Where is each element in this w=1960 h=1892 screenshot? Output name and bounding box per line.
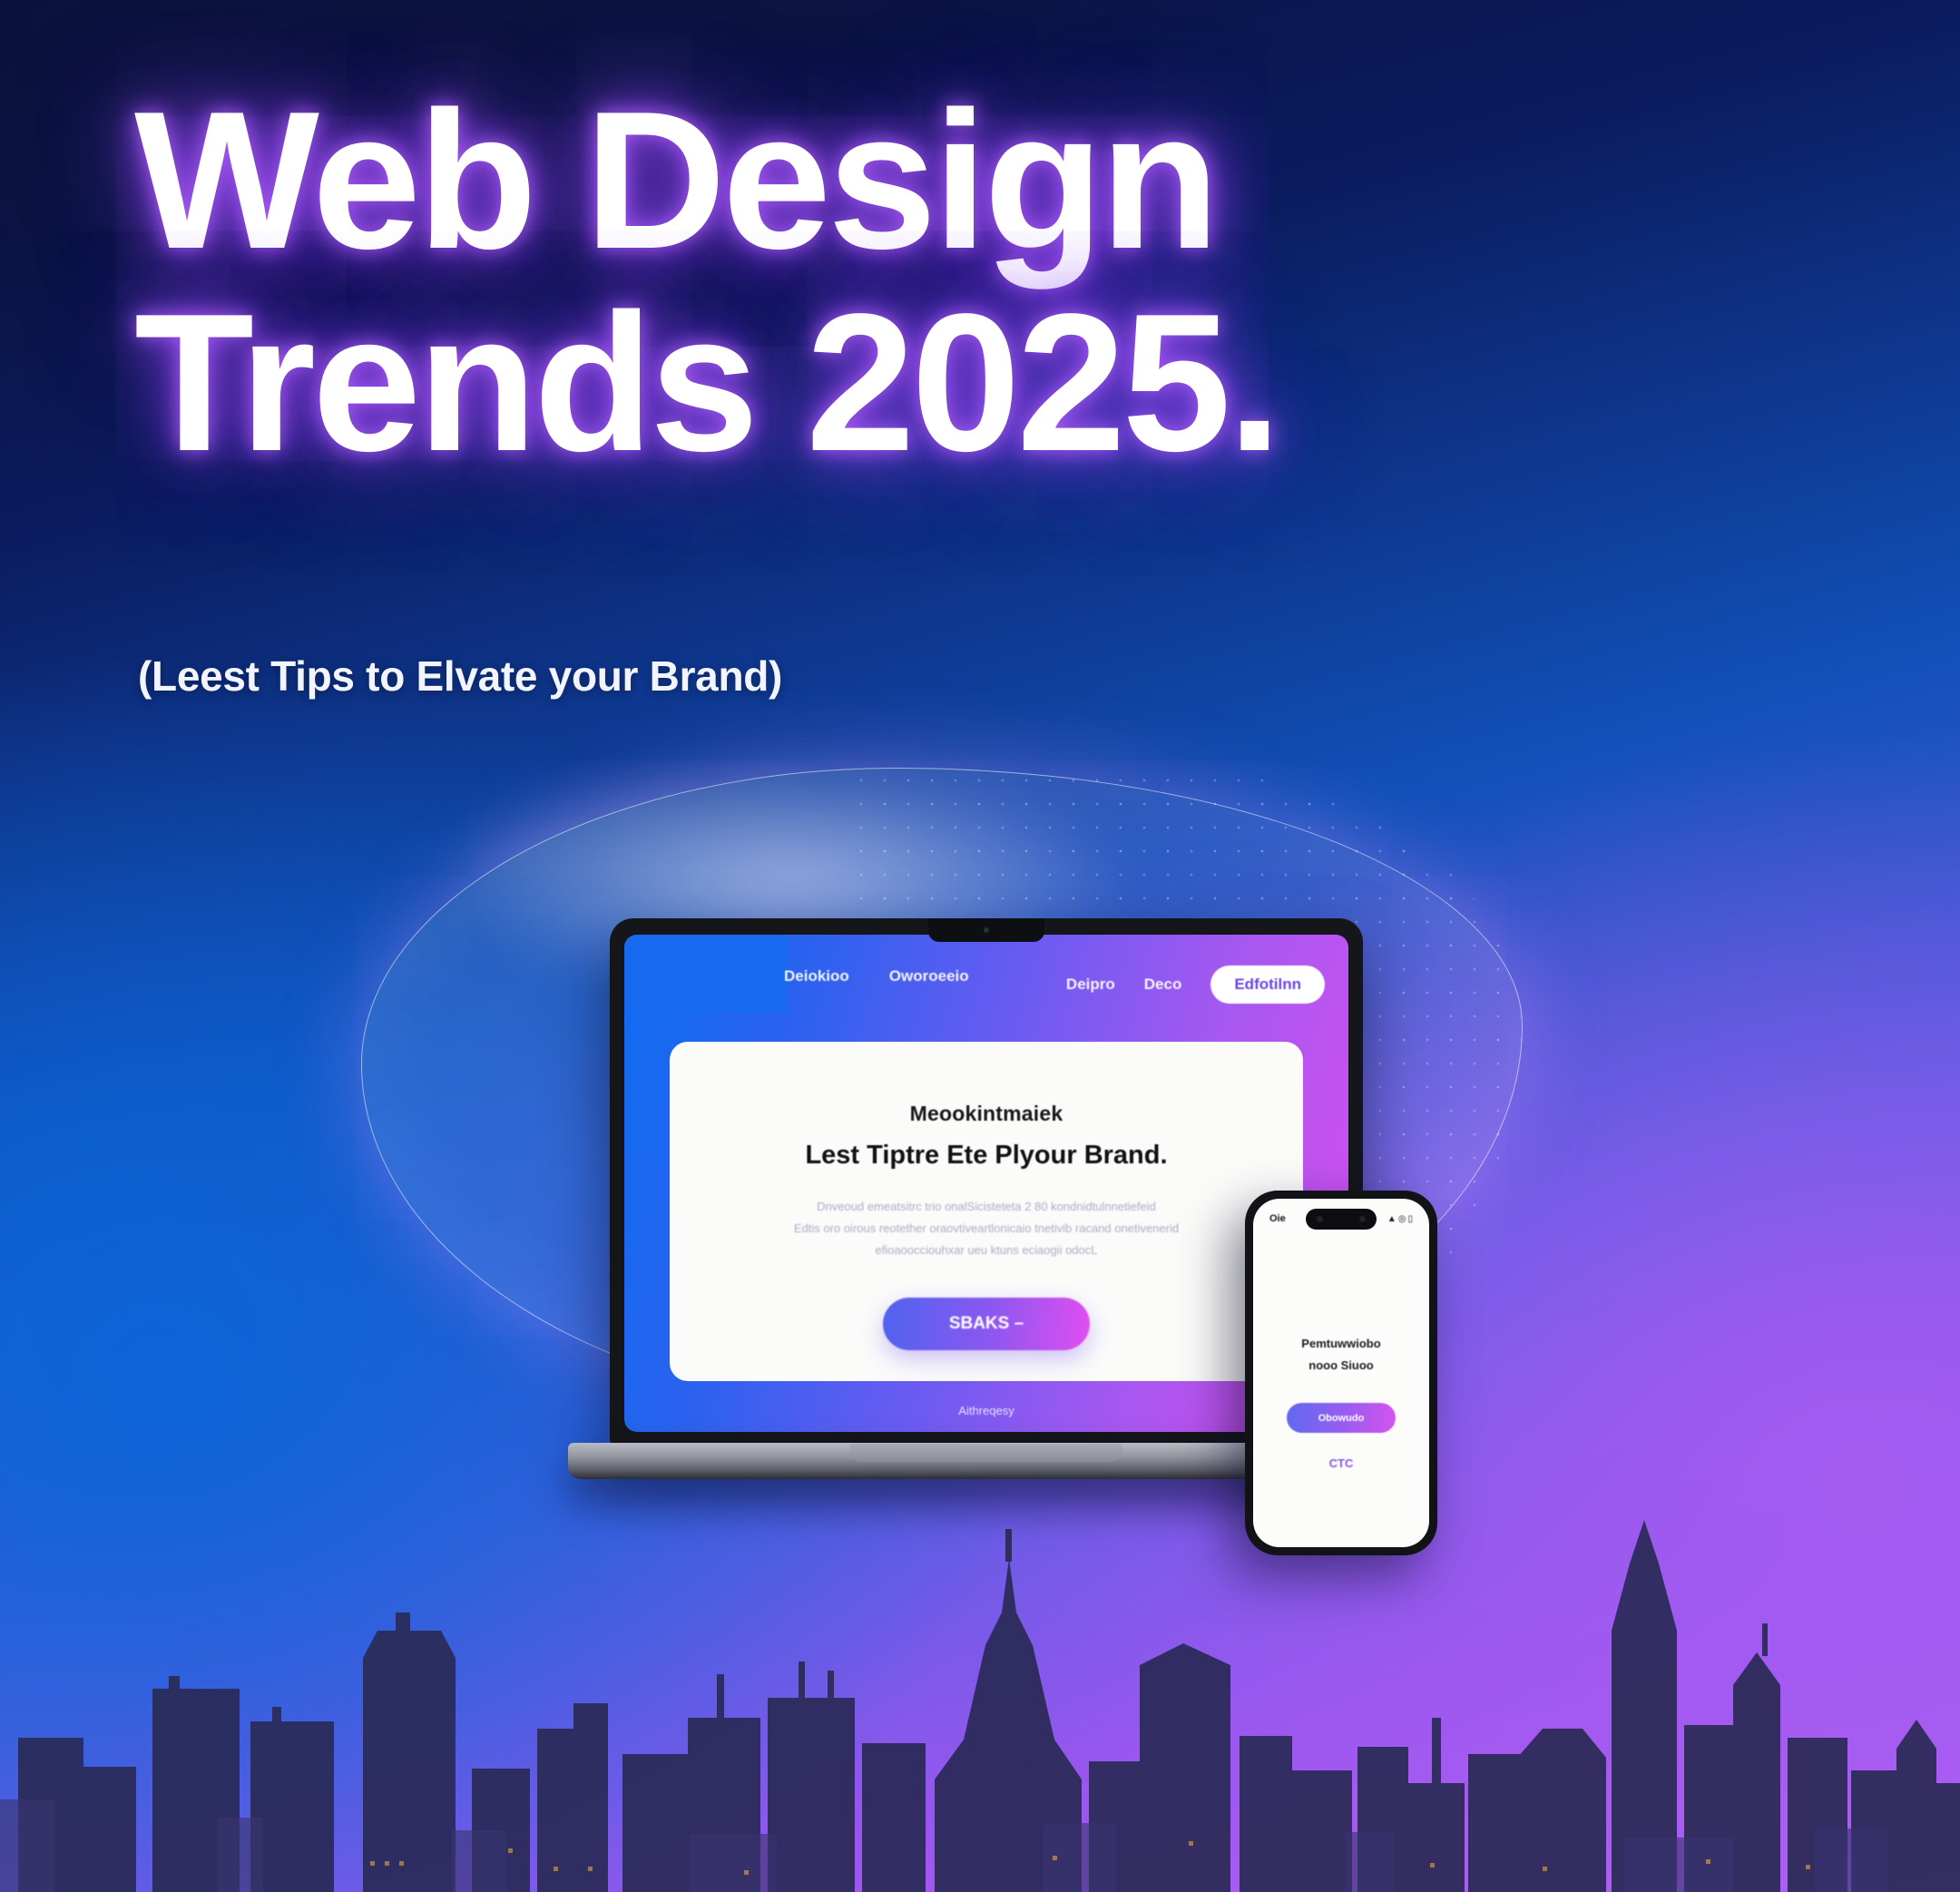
poster-canvas: Web Design Trends 2025. (Leest Tips to E… xyxy=(0,0,1960,1892)
hero-body-line-3: efioaoocciouhxar ueu ktuns eciaogii odoc… xyxy=(740,1240,1233,1261)
page-title: Web Design Trends 2025. xyxy=(134,86,1405,477)
navbar-cta-button[interactable]: Edfotilnn xyxy=(1210,966,1325,1004)
phone-headline-1: Pemtuwwiobo xyxy=(1268,1337,1416,1350)
phone-mockup: Oie ▲◎▯ Pemtuwwiobo nooo Siuoo Obowudo C… xyxy=(1245,1191,1437,1555)
hero-headline: Lest Tiptre Ete Plyour Brand. xyxy=(805,1141,1167,1171)
laptop-screen: Deiokioo Oworoeeio Deipro Deco Edfotilnn… xyxy=(624,935,1348,1432)
nav-link-3[interactable]: Deipro xyxy=(1066,975,1115,994)
subtitle: (Leest Tips to Elvate your Brand) xyxy=(138,652,782,701)
city-skyline-silhouette xyxy=(0,1511,1960,1892)
phone-status-icons: ▲◎▯ xyxy=(1387,1214,1415,1224)
title-line-1: Web Design xyxy=(134,86,1405,274)
nav-link-4[interactable]: Deco xyxy=(1144,975,1182,994)
website-navbar: Deiokioo Oworoeeio Deipro Deco Edfotilnn xyxy=(624,966,1348,1002)
phone-body: Pemtuwwiobo nooo Siuoo Obowudo CTC xyxy=(1268,1337,1416,1470)
navbar-left-links: Deiokioo Oworoeeio xyxy=(784,967,969,985)
dynamic-island-icon xyxy=(1306,1209,1377,1230)
phone-screen: Oie ▲◎▯ Pemtuwwiobo nooo Siuoo Obowudo C… xyxy=(1253,1199,1429,1547)
webcam-notch-icon xyxy=(928,918,1044,942)
nav-link-1[interactable]: Deiokioo xyxy=(784,967,849,985)
phone-status-time: Oie xyxy=(1269,1213,1286,1224)
phone-cta-button[interactable]: Obowudo xyxy=(1287,1403,1396,1433)
hero-card: Meookintmaiek Lest Tiptre Ete Plyour Bra… xyxy=(670,1042,1303,1381)
phone-footer-label: CTC xyxy=(1268,1456,1416,1470)
nav-link-2[interactable]: Oworoeeio xyxy=(889,967,969,985)
hero-body-line-1: Dnveoud emeatsitrc trio onalSicisteteta … xyxy=(740,1196,1233,1218)
hero-cta-button[interactable]: SBAKS – xyxy=(883,1298,1090,1350)
phone-headline-2: nooo Siuoo xyxy=(1268,1358,1416,1372)
hero-body-text: Dnveoud emeatsitrc trio onalSicisteteta … xyxy=(740,1196,1233,1261)
hero-eyebrow: Meookintmaiek xyxy=(910,1102,1063,1126)
navbar-right-links: Deipro Deco Edfotilnn xyxy=(1066,966,1325,1004)
screen-footer-text: Aithreqesy xyxy=(624,1404,1348,1417)
title-line-2: Trends 2025. xyxy=(134,289,1405,476)
hero-body-line-2: Edtis oro oirous reotether oraovtiveartl… xyxy=(740,1218,1233,1240)
